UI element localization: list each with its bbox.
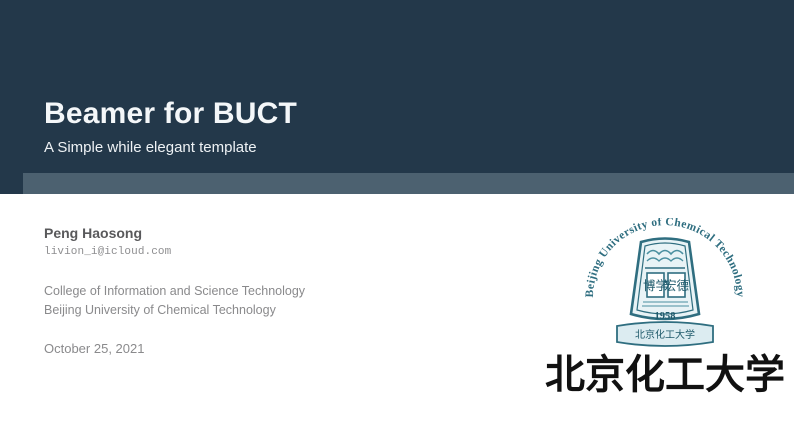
title-slide: Beamer for BUCT A Simple while elegant t… xyxy=(0,0,794,447)
author-name: Peng Haosong xyxy=(44,224,474,242)
presentation-date: October 25, 2021 xyxy=(44,341,474,358)
page-subtitle: A Simple while elegant template xyxy=(44,139,297,157)
seal-founded-year: 1958 xyxy=(655,311,676,322)
seal-vessel: 博学 宏德 1958 xyxy=(631,239,699,323)
author-email: livion_i@icloud.com xyxy=(44,245,474,259)
page-title: Beamer for BUCT xyxy=(44,97,297,130)
banner-accent-rule xyxy=(23,173,794,194)
university-logo: Beijing University of Chemical Technolog… xyxy=(545,218,785,403)
seal-motto-right: 宏德 xyxy=(664,278,690,293)
affiliation-group: College of Information and Science Techn… xyxy=(44,282,474,318)
university-wordmark: 北京化工大学 xyxy=(545,346,785,402)
title-group: Beamer for BUCT A Simple while elegant t… xyxy=(44,97,297,157)
author-block: Peng Haosong livion_i@icloud.com College… xyxy=(44,224,474,358)
affiliation-line-university: Beijing University of Chemical Technolog… xyxy=(44,301,474,319)
affiliation-line-college: College of Information and Science Techn… xyxy=(44,282,474,300)
wordmark-text: 北京化工大学 xyxy=(545,352,785,398)
seal-banner: 北京化工大学 xyxy=(617,322,713,346)
seal-banner-text: 北京化工大学 xyxy=(635,328,695,341)
university-seal-icon: Beijing University of Chemical Technolog… xyxy=(575,218,755,350)
